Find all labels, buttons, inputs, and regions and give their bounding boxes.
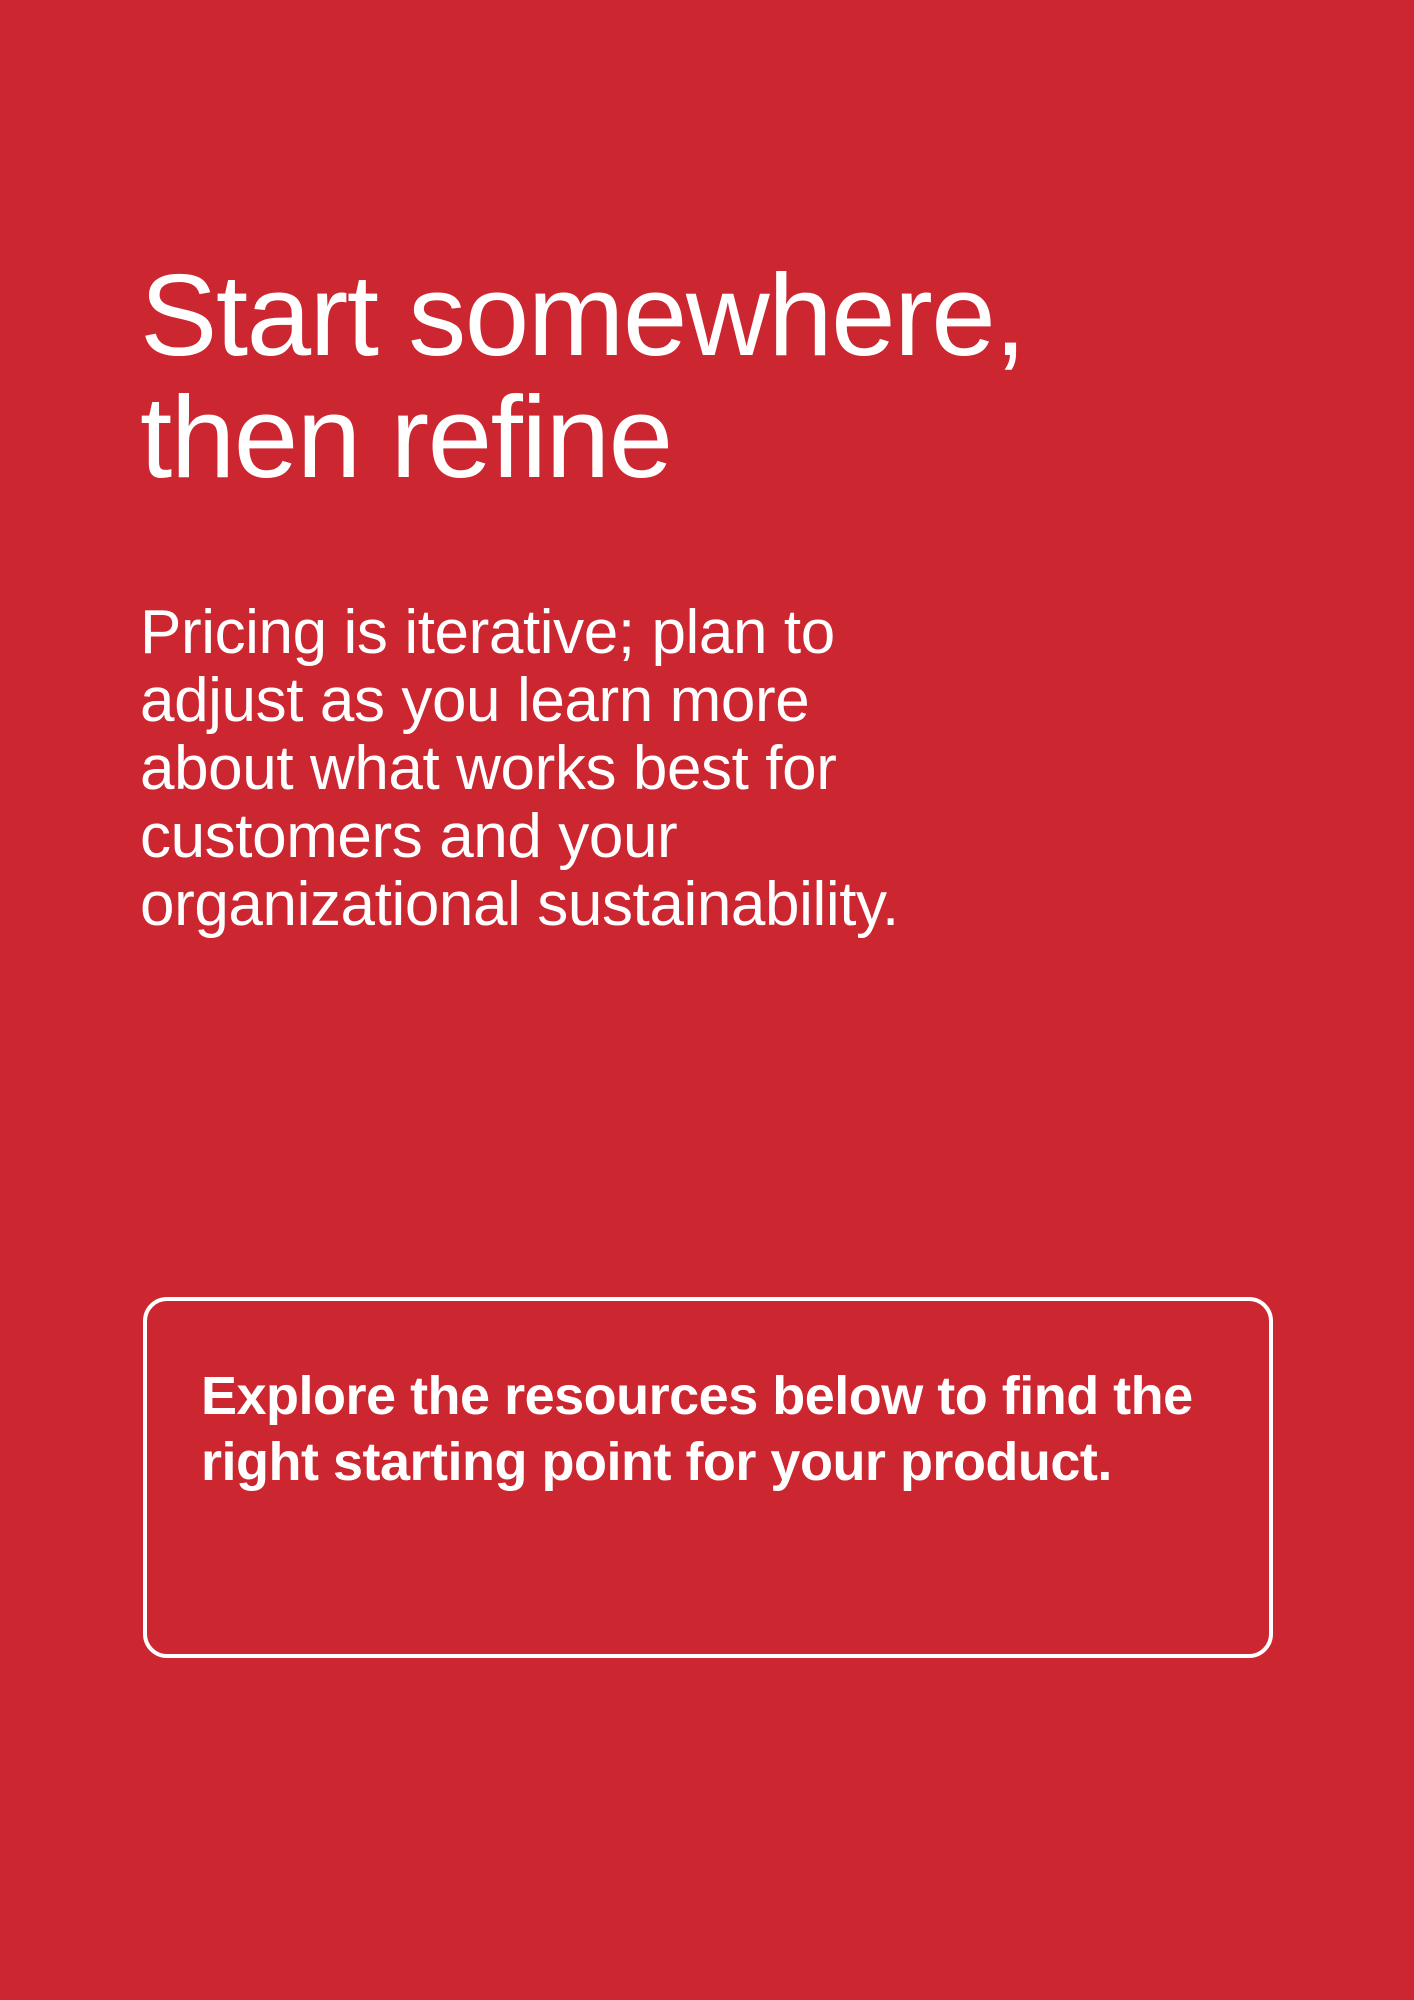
page-title: Start somewhere, then refine [140,255,1285,499]
body-paragraph: Pricing is iterative; plan to adjust as … [140,499,940,940]
callout-box: Explore the resources below to find the … [143,1297,1273,1658]
slide-root: Start somewhere, then refine Pricing is … [0,0,1414,2000]
text-content-block: Start somewhere, then refine Pricing is … [140,255,1285,940]
callout-text: Explore the resources below to find the … [201,1363,1201,1496]
